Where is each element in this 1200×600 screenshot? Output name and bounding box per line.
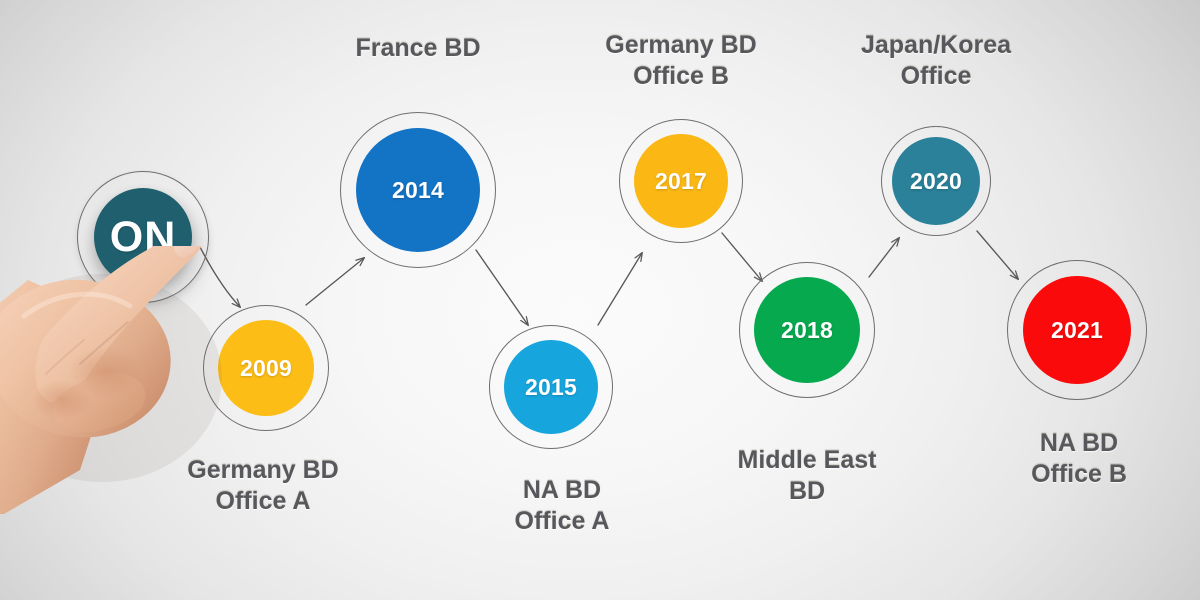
arrow-2015-to-2017: [598, 253, 642, 325]
on-button-disc[interactable]: ON: [94, 188, 192, 286]
timeline-canvas: ON2009Germany BD Office A2014France BD20…: [0, 0, 1200, 600]
milestone-year-2018[interactable]: 2018: [754, 277, 860, 383]
arrow-2020-to-2021: [977, 231, 1018, 279]
milestone-node-2015[interactable]: 2015: [489, 325, 613, 449]
arrow-2017-to-2018: [722, 233, 762, 281]
milestone-year-2021[interactable]: 2021: [1023, 276, 1131, 384]
milestone-label-2017: Germany BD Office B: [605, 30, 756, 92]
milestone-node-2018[interactable]: 2018: [739, 262, 875, 398]
arrow-2009-to-2014: [306, 258, 364, 305]
milestone-year-2020[interactable]: 2020: [892, 137, 980, 225]
milestone-label-2009: Germany BD Office A: [187, 455, 338, 517]
milestone-node-2021[interactable]: 2021: [1007, 260, 1147, 400]
milestone-node-2017[interactable]: 2017: [619, 119, 743, 243]
milestone-year-2015[interactable]: 2015: [504, 340, 598, 434]
milestone-node-2009[interactable]: 2009: [203, 305, 329, 431]
milestone-node-2020[interactable]: 2020: [881, 126, 991, 236]
milestone-year-2017[interactable]: 2017: [634, 134, 728, 228]
milestone-label-2014: France BD: [355, 33, 480, 64]
arrow-2014-to-2015: [476, 250, 528, 325]
arrow-2018-to-2020: [869, 238, 899, 277]
milestone-node-2014[interactable]: 2014: [340, 112, 496, 268]
milestone-year-2009[interactable]: 2009: [218, 320, 314, 416]
on-button[interactable]: ON: [77, 171, 209, 303]
milestone-year-2014[interactable]: 2014: [356, 128, 480, 252]
milestone-label-2015: NA BD Office A: [515, 475, 610, 537]
milestone-label-2020: Japan/Korea Office: [861, 30, 1011, 92]
milestone-label-2018: Middle East BD: [738, 445, 877, 507]
milestone-label-2021: NA BD Office B: [1031, 428, 1127, 490]
